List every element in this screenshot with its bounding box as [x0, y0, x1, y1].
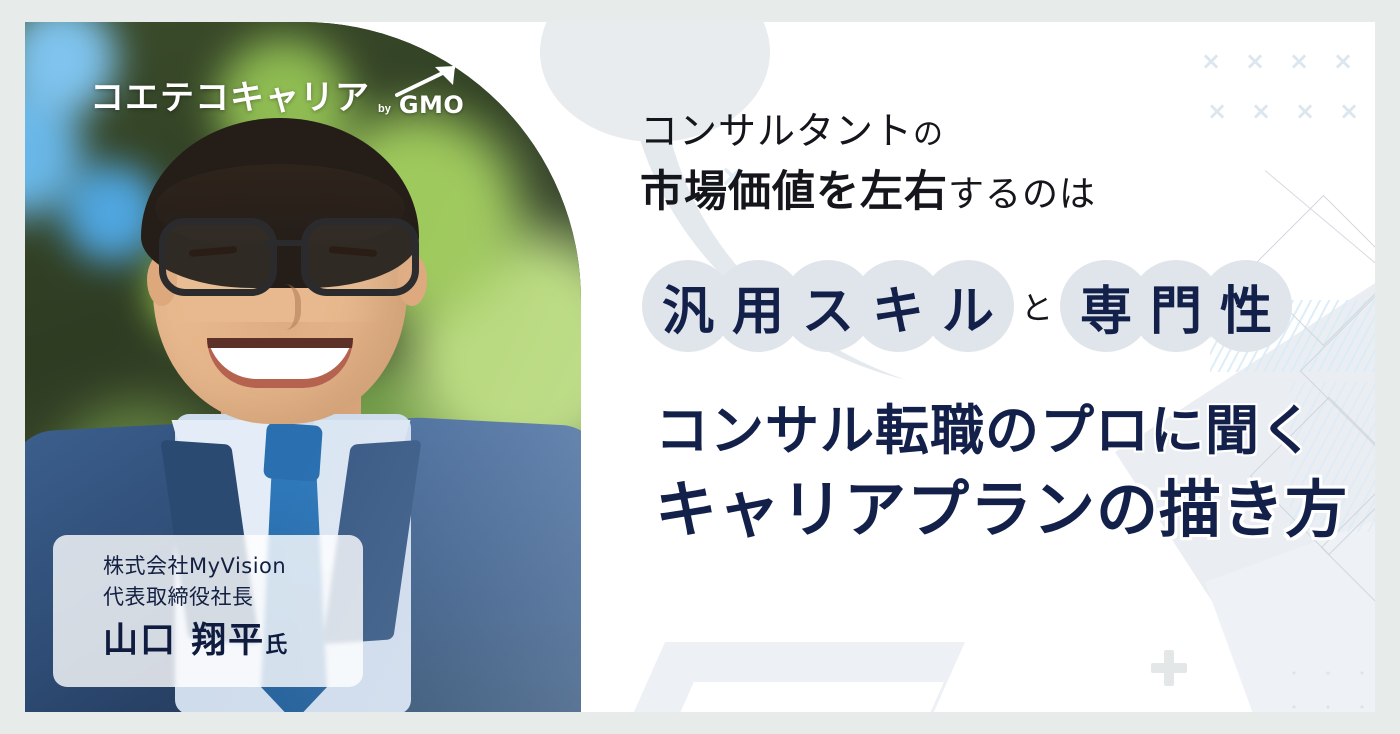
headline-block: コンサルタントの 市場価値を左右するのは	[640, 108, 1360, 221]
speaker-name: 山口 翔平氏	[103, 621, 363, 666]
keyword-char-text: 汎	[662, 269, 714, 344]
background-panel-shape	[625, 642, 965, 712]
headline-line-2-main: 市場価値を左右	[640, 167, 948, 217]
dot-grid-pattern	[1277, 656, 1375, 712]
keyword-char-text: キ	[872, 269, 924, 344]
keyword-char-text: 性	[1220, 269, 1272, 344]
headline-line-2: 市場価値を左右するのは	[640, 166, 1360, 221]
headline-line-1: コンサルタントの	[640, 108, 1360, 158]
keyword-conjunction: と	[1021, 283, 1053, 329]
plus-mark-icon	[1151, 650, 1187, 686]
speaker-name-text: 山口 翔平	[103, 621, 265, 661]
logo-by-label: by	[378, 103, 391, 115]
keyword-char-text: 専	[1080, 269, 1132, 344]
x-mark-icon: ×	[1244, 50, 1266, 72]
rising-arrow-icon	[395, 64, 465, 98]
keyword-char: 性	[1211, 258, 1281, 354]
keyword-row: 汎 用 ス キ ル と 専 門 性	[653, 258, 1281, 354]
keyword-char: ル	[933, 258, 1003, 354]
headline-line-1-main: コンサルタント	[640, 109, 913, 153]
speaker-name-card: 株式会社MyVision 代表取締役社長 山口 翔平氏	[53, 535, 363, 687]
main-title-line-1: コンサル転職のプロに聞く	[655, 400, 1375, 462]
speaker-company: 株式会社MyVision	[103, 551, 363, 582]
headline-line-2-tail: するのは	[948, 174, 1096, 215]
keyword-group-general-skill: 汎 用 ス キ ル	[653, 258, 1003, 354]
site-logo[interactable]: コエテコキャリア by GMO	[90, 70, 464, 119]
keyword-group-specialty: 専 門 性	[1071, 258, 1281, 354]
keyword-char-text: ル	[942, 269, 994, 344]
background-panel-shape-inner	[676, 682, 944, 712]
headline-line-1-tail: の	[913, 117, 944, 152]
speaker-title: 代表取締役社長	[103, 582, 363, 613]
keyword-char-text: 用	[732, 269, 784, 344]
x-mark-icon: ×	[1200, 50, 1222, 72]
main-title-block: コンサル転職のプロに聞く キャリアプランの描き方	[655, 400, 1375, 546]
keyword-char-text: ス	[802, 269, 854, 344]
keyword-char-text: 門	[1150, 269, 1202, 344]
promo-banner: × × × × × × × × ×	[25, 22, 1375, 712]
x-mark-icon: ×	[1332, 50, 1354, 72]
main-title-line-2: キャリアプランの描き方	[655, 474, 1375, 546]
speaker-name-suffix: 氏	[265, 633, 287, 658]
x-mark-icon: ×	[1288, 50, 1310, 72]
logo-brand-text: コエテコキャリア	[90, 70, 370, 119]
